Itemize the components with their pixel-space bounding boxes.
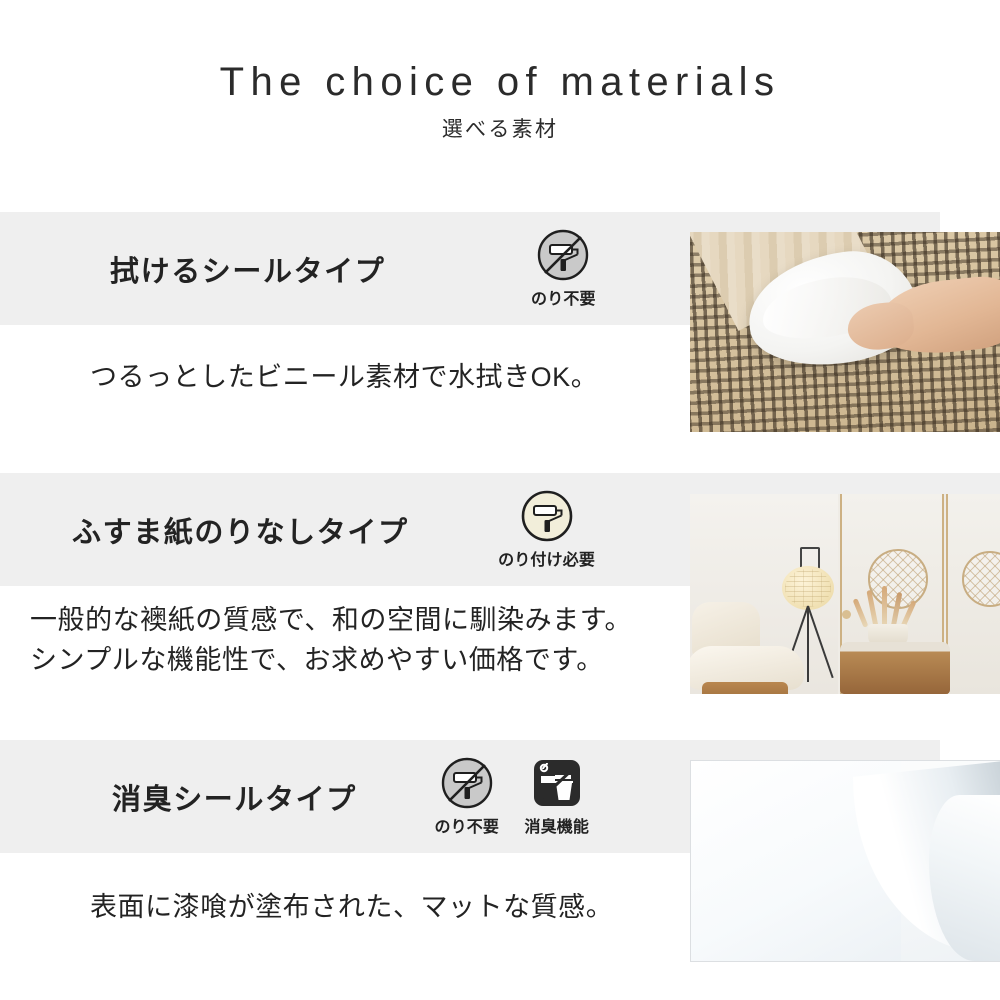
- badge-label: のり不要: [531, 285, 596, 309]
- lounge-chair: [690, 602, 814, 694]
- wooden-side-table: [840, 642, 950, 694]
- page-subtitle: 選べる素材: [0, 113, 1000, 143]
- section-deodorizing-seal-type: 消臭シールタイプ のり不要: [0, 740, 1000, 1000]
- badge-no-glue: のり不要: [429, 756, 505, 837]
- paint-roller-icon: [520, 489, 574, 543]
- page-header: The choice of materials 選べる素材: [0, 0, 1000, 196]
- photo-towel-wiping-mat: [690, 232, 1000, 432]
- photo-japanese-interior: [690, 494, 1000, 694]
- badge-label: のり不要: [434, 813, 499, 837]
- no-glue-paint-roller-icon: [536, 228, 590, 282]
- chair-wood-base: [702, 682, 788, 694]
- badge-deodorizing: 消臭機能: [519, 756, 595, 837]
- section-description: 一般的な襖紙の質感で、和の空間に馴染みます。 シンプルな機能性で、お求めやすい価…: [30, 601, 632, 681]
- dried-pampas-grass: [850, 574, 928, 628]
- materials-infographic: The choice of materials 選べる素材 拭けるシールタイプ: [0, 0, 1000, 1000]
- badge-no-glue: のり不要: [525, 228, 601, 309]
- badge-label: 消臭機能: [524, 813, 589, 837]
- section-fusuma-paper-no-glue-type: ふすま紙のりなしタイプ のり付け必要 一般的な襖: [0, 473, 1000, 723]
- badge-group: のり不要: [429, 756, 595, 837]
- badge-group: のり不要: [525, 228, 601, 309]
- section-description: 表面に漆喰が塗布された、マットな質感。: [90, 888, 613, 928]
- section-title: 拭けるシールタイプ: [110, 248, 385, 290]
- deodorizing-trash-bin-icon: [530, 756, 584, 810]
- page-title: The choice of materials: [0, 60, 1000, 104]
- section-wipeable-seal-type: 拭けるシールタイプ のり不要: [0, 212, 1000, 472]
- section-description: つるっとしたビニール素材で水拭きOK。: [90, 358, 598, 398]
- badge-group: のり付け必要: [487, 489, 607, 570]
- no-glue-paint-roller-icon: [440, 756, 494, 810]
- badge-glue-required: のり付け必要: [487, 489, 607, 570]
- badge-label: のり付け必要: [498, 546, 595, 570]
- photo-white-curled-sheet: [690, 760, 1000, 962]
- section-title: 消臭シールタイプ: [112, 776, 357, 818]
- section-title: ふすま紙のりなしタイプ: [72, 509, 409, 551]
